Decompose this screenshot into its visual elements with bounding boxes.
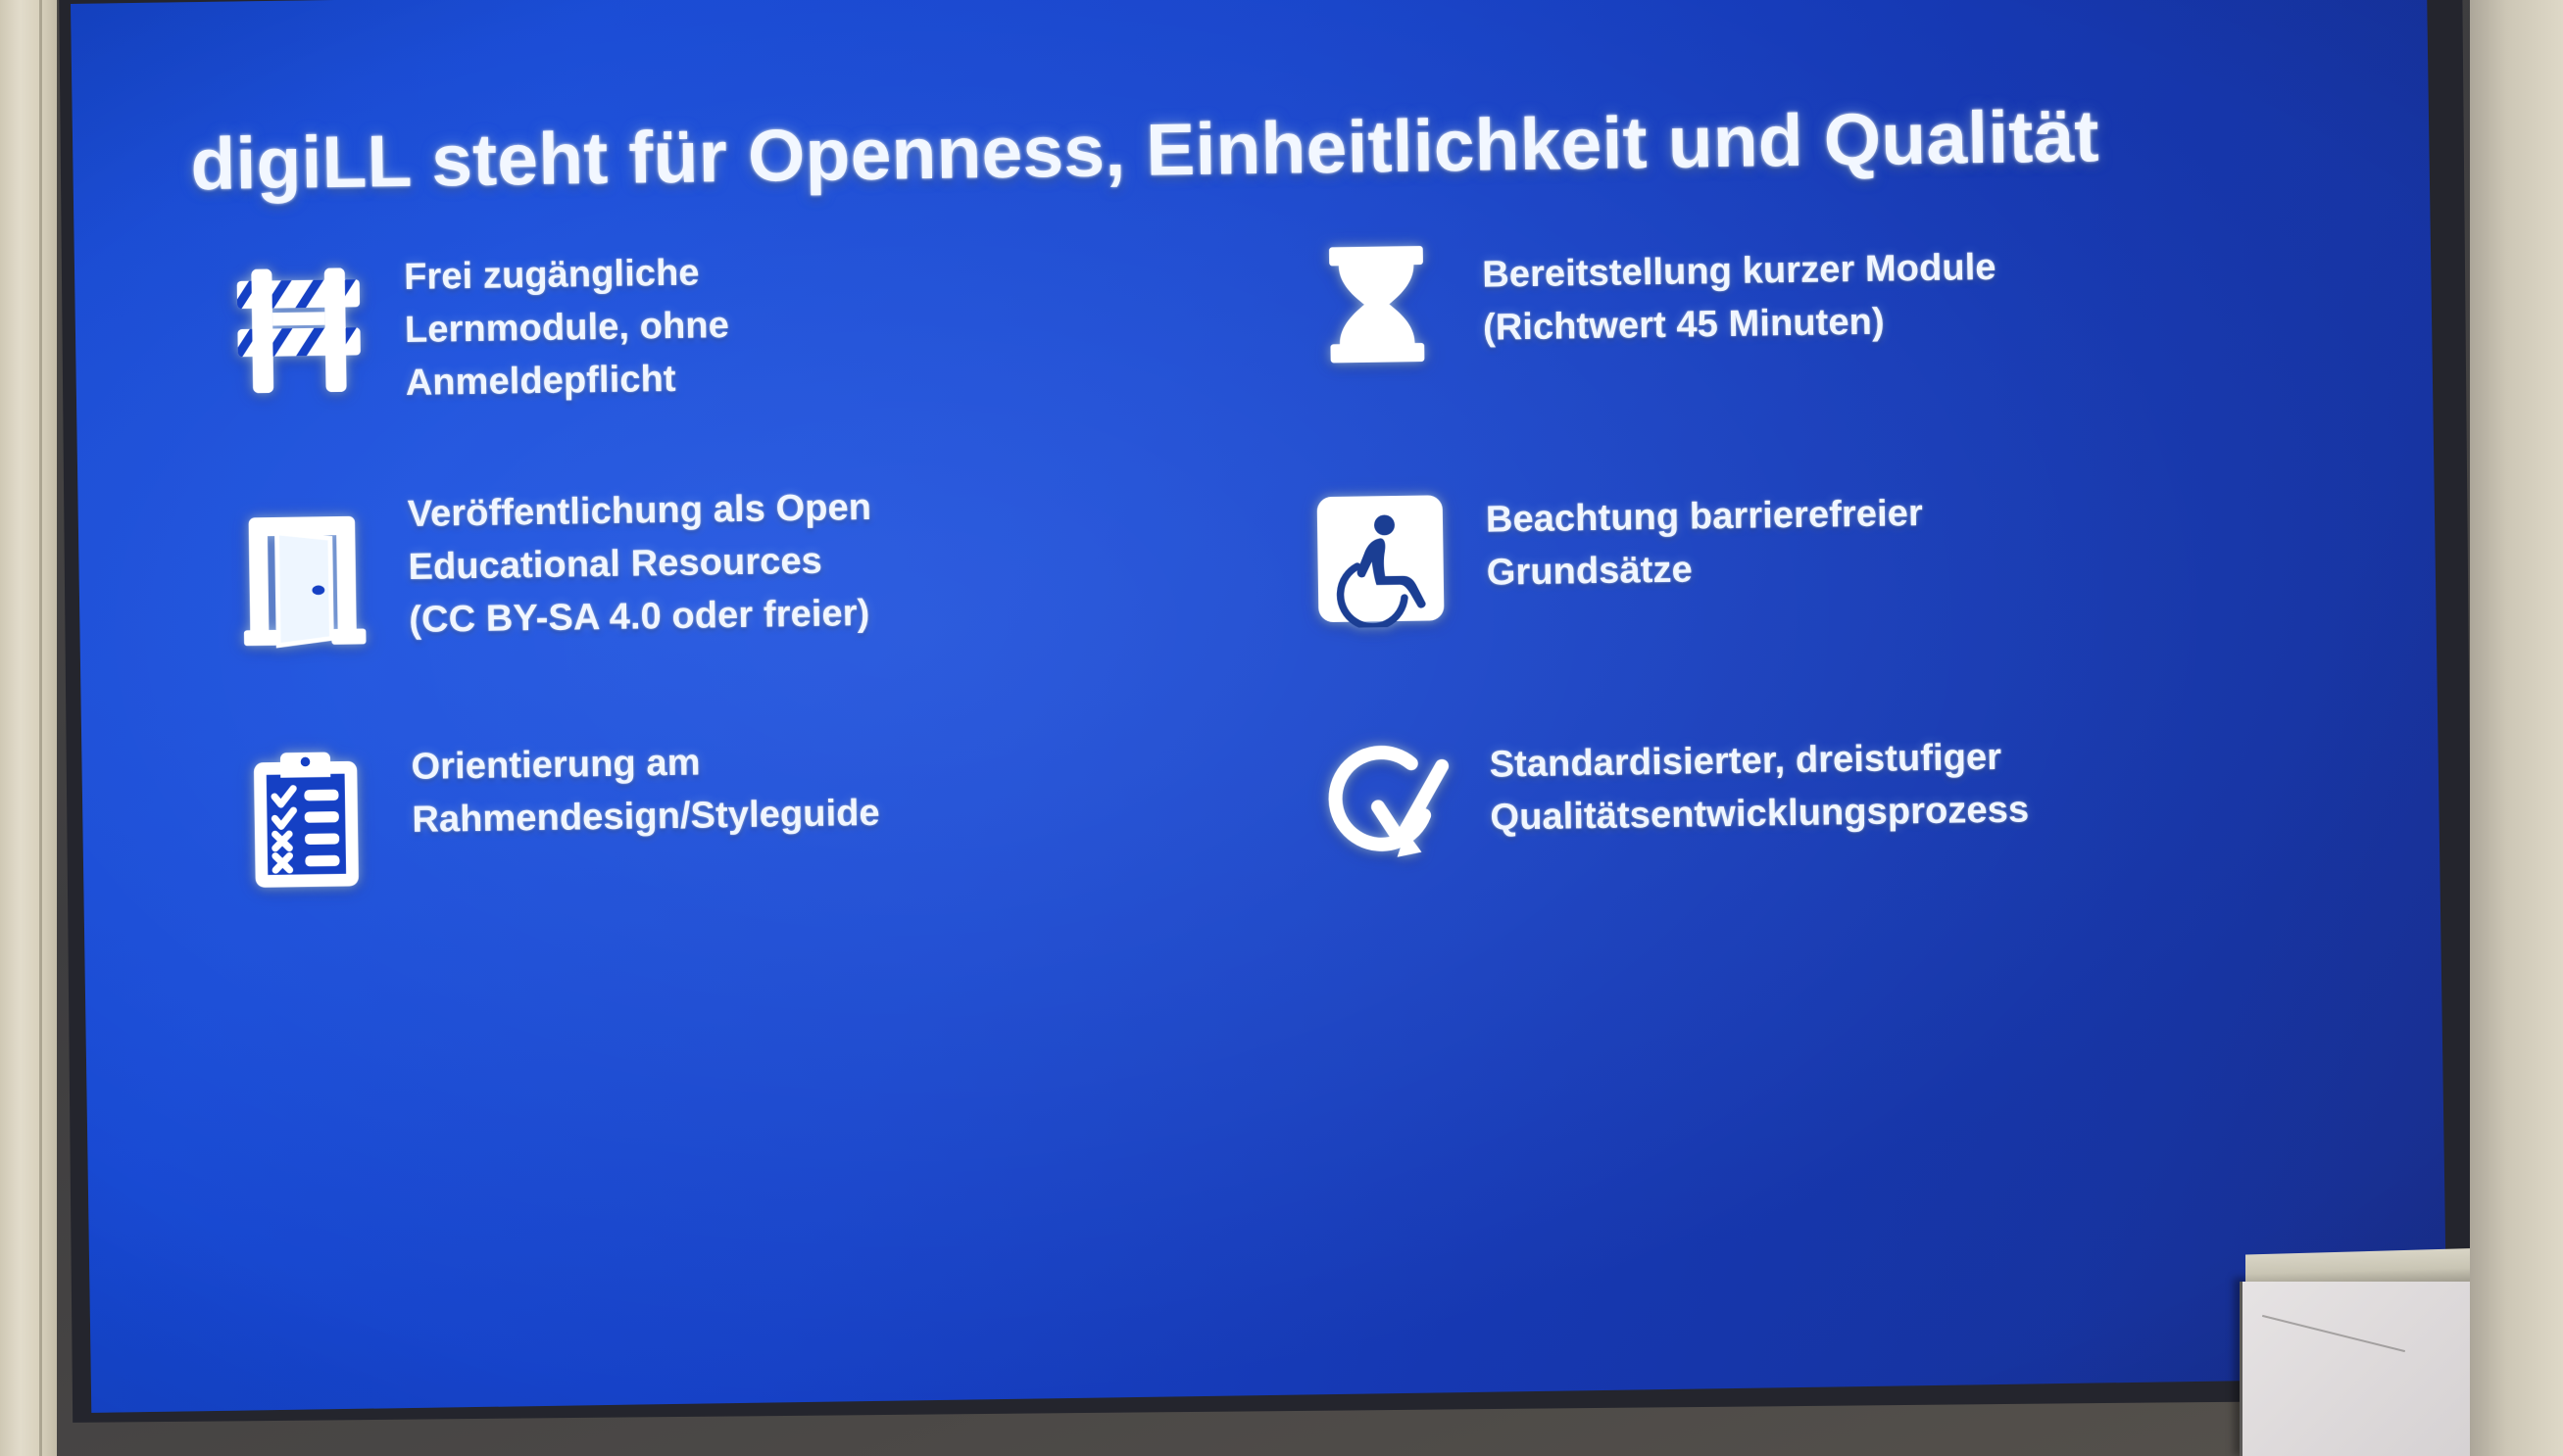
slide-item-barrier: Frei zugängliche Lernmodule, ohne Anmeld…: [192, 230, 1175, 433]
open-door-icon: [195, 487, 410, 662]
clipboard-checklist-icon: [199, 732, 414, 907]
refresh-checkmark-icon: [1277, 716, 1492, 892]
slide-item-hourglass: Bereitstellung kurzer Module (Richtwert …: [1172, 214, 2332, 418]
barrier-icon: [192, 242, 407, 417]
presentation-slide: digiLL steht für Openness, Einheitlichke…: [71, 0, 2447, 1413]
wheelchair-accessibility-icon: [1273, 471, 1488, 647]
slide-item-text: Veröffentlichung als Open Educational Re…: [407, 480, 873, 648]
slide-item-text: Orientierung am Rahmendesign/Styleguide: [411, 725, 880, 848]
hourglass-icon: [1270, 226, 1485, 402]
left-wall-strip: [0, 0, 57, 1456]
slide-title: digiLL steht für Openness, Einheitlichke…: [190, 95, 2269, 203]
slide-item-text: Standardisierter, dreistufiger Qualitäts…: [1489, 707, 2030, 845]
photo-of-projected-slide: digiLL steht für Openness, Einheitlichke…: [0, 0, 2563, 1456]
slide-item-clipboard: Orientierung am Rahmendesign/Styleguide: [199, 720, 1182, 923]
slide-item-text: Bereitstellung kurzer Module (Richtwert …: [1482, 218, 1997, 356]
left-wall-seam: [39, 0, 42, 1456]
right-wall-strip: [2470, 0, 2563, 1456]
flipchart-crease: [2262, 1315, 2405, 1352]
slide-item-text: Beachtung barrierefreier Grundsätze: [1485, 464, 1924, 601]
slide-item-text: Frei zugängliche Lernmodule, ohne Anmeld…: [404, 237, 730, 411]
slide-content-grid: Frei zugängliche Lernmodule, ohne Anmeld…: [192, 214, 2339, 923]
slide-item-accessibility: Beachtung barrierefreier Grundsätze: [1175, 459, 2335, 663]
slide-item-quality-process: Standardisierter, dreistufiger Qualitäts…: [1179, 704, 2339, 908]
slide-item-open-door: Veröffentlichung als Open Educational Re…: [195, 475, 1178, 678]
